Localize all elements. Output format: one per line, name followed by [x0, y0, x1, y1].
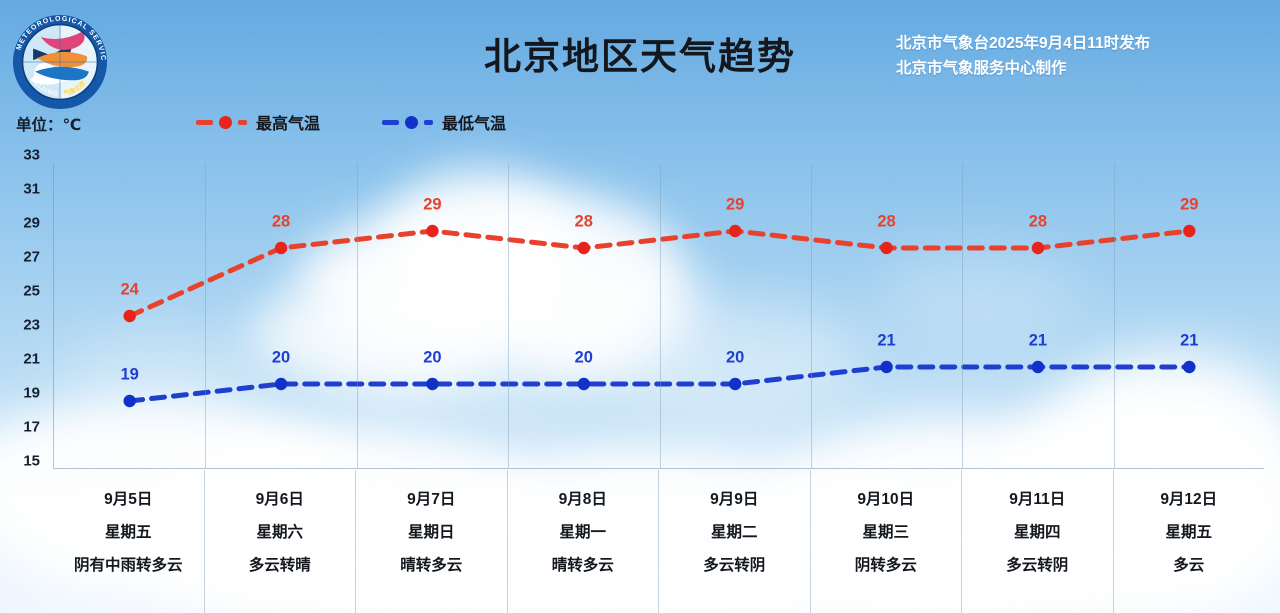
day-date: 9月12日 — [1114, 483, 1265, 516]
legend-dash-low-icon — [382, 120, 399, 125]
data-point-low — [1032, 361, 1044, 373]
day-column[interactable]: 9月6日星期六多云转晴 — [205, 470, 357, 613]
issue-line-1: 北京市气象台2025年9月4日11时发布 — [896, 31, 1150, 56]
data-label-high: 28 — [877, 213, 895, 232]
data-label-high: 29 — [1180, 196, 1198, 215]
day-weekday: 星期五 — [53, 516, 204, 549]
data-label-high: 24 — [121, 281, 139, 300]
data-point-high — [729, 225, 741, 237]
unit-label: 单位：℃ — [16, 113, 81, 135]
legend-label-low: 最低气温 — [442, 110, 506, 134]
legend-dash2-low-icon — [424, 120, 433, 125]
chart-plot-area: 24282928292828291920202020212121 — [53, 163, 1264, 469]
day-column[interactable]: 9月7日星期日晴转多云 — [356, 470, 508, 613]
day-condition: 晴转多云 — [508, 549, 659, 582]
date-axis-row: 9月5日星期五阴有中雨转多云9月6日星期六多云转晴9月7日星期日晴转多云9月8日… — [53, 470, 1264, 613]
day-column[interactable]: 9月10日星期三阴转多云 — [811, 470, 963, 613]
y-axis-tick: 31 — [23, 181, 40, 198]
day-date: 9月9日 — [659, 483, 810, 516]
chart-gridline — [660, 163, 661, 468]
y-axis-tick: 29 — [23, 215, 40, 232]
data-point-high — [123, 310, 135, 322]
legend-dash-high-icon — [196, 120, 213, 125]
chart-gridline — [508, 163, 509, 468]
day-condition: 阴有中雨转多云 — [53, 549, 204, 582]
y-axis-tick: 15 — [23, 453, 40, 470]
data-point-low — [275, 378, 287, 390]
day-condition: 多云转阴 — [659, 549, 810, 582]
day-date: 9月6日 — [205, 483, 356, 516]
legend-dot-high-icon — [219, 116, 232, 129]
data-label-low: 20 — [423, 349, 441, 368]
y-axis-tick: 23 — [23, 317, 40, 334]
day-weekday: 星期三 — [811, 516, 962, 549]
day-condition: 多云转晴 — [205, 549, 356, 582]
chart-gridline — [1114, 163, 1115, 468]
data-point-high — [880, 242, 892, 254]
legend-dash2-high-icon — [238, 120, 247, 125]
data-point-low — [729, 378, 741, 390]
day-weekday: 星期二 — [659, 516, 810, 549]
legend-item-high: 最高气温 — [196, 110, 320, 134]
day-column[interactable]: 9月11日星期四多云转阴 — [962, 470, 1114, 613]
day-condition: 晴转多云 — [356, 549, 507, 582]
y-axis-labels: 33312927252321191715 — [0, 155, 48, 477]
chart-gridline — [962, 163, 963, 468]
y-axis-tick: 33 — [23, 147, 40, 164]
day-column[interactable]: 9月9日星期二多云转阴 — [659, 470, 811, 613]
day-column[interactable]: 9月8日星期一晴转多云 — [508, 470, 660, 613]
data-label-high: 29 — [726, 196, 744, 215]
day-weekday: 星期四 — [962, 516, 1113, 549]
data-label-high: 28 — [575, 213, 593, 232]
data-label-low: 21 — [877, 332, 895, 351]
chart-gridline — [357, 163, 358, 468]
day-date: 9月7日 — [356, 483, 507, 516]
data-point-high — [426, 225, 438, 237]
data-point-low — [880, 361, 892, 373]
y-axis-tick: 25 — [23, 283, 40, 300]
day-date: 9月5日 — [53, 483, 204, 516]
data-point-low — [426, 378, 438, 390]
issue-info: 北京市气象台2025年9月4日11时发布 北京市气象服务中心制作 — [896, 31, 1150, 81]
legend-label-high: 最高气温 — [256, 110, 320, 134]
day-date: 9月8日 — [508, 483, 659, 516]
data-point-low — [123, 395, 135, 407]
y-axis-tick: 21 — [23, 351, 40, 368]
day-weekday: 星期日 — [356, 516, 507, 549]
day-condition: 多云 — [1114, 549, 1265, 582]
data-label-high: 28 — [272, 213, 290, 232]
data-label-low: 20 — [272, 349, 290, 368]
data-label-low: 21 — [1180, 332, 1198, 351]
chart-gridline — [811, 163, 812, 468]
data-label-low: 20 — [575, 349, 593, 368]
day-weekday: 星期六 — [205, 516, 356, 549]
day-column[interactable]: 9月5日星期五阴有中雨转多云 — [53, 470, 205, 613]
day-column[interactable]: 9月12日星期五多云 — [1114, 470, 1265, 613]
data-point-high — [1183, 225, 1195, 237]
chart-legend: 最高气温 最低气温 — [196, 110, 506, 134]
day-weekday: 星期五 — [1114, 516, 1265, 549]
data-label-high: 29 — [423, 196, 441, 215]
day-weekday: 星期一 — [508, 516, 659, 549]
day-date: 9月11日 — [962, 483, 1113, 516]
day-condition: 阴转多云 — [811, 549, 962, 582]
data-point-high — [578, 242, 590, 254]
day-condition: 多云转阴 — [962, 549, 1113, 582]
y-axis-tick: 17 — [23, 419, 40, 436]
y-axis-tick: 27 — [23, 249, 40, 266]
data-label-low: 21 — [1029, 332, 1047, 351]
data-point-low — [578, 378, 590, 390]
legend-dot-low-icon — [405, 116, 418, 129]
data-point-high — [275, 242, 287, 254]
data-label-low: 19 — [121, 366, 139, 385]
data-point-low — [1183, 361, 1195, 373]
day-date: 9月10日 — [811, 483, 962, 516]
y-axis-tick: 19 — [23, 385, 40, 402]
data-label-high: 28 — [1029, 213, 1047, 232]
data-point-high — [1032, 242, 1044, 254]
legend-item-low: 最低气温 — [382, 110, 506, 134]
chart-gridline — [205, 163, 206, 468]
data-label-low: 20 — [726, 349, 744, 368]
issue-line-2: 北京市气象服务中心制作 — [896, 56, 1150, 81]
